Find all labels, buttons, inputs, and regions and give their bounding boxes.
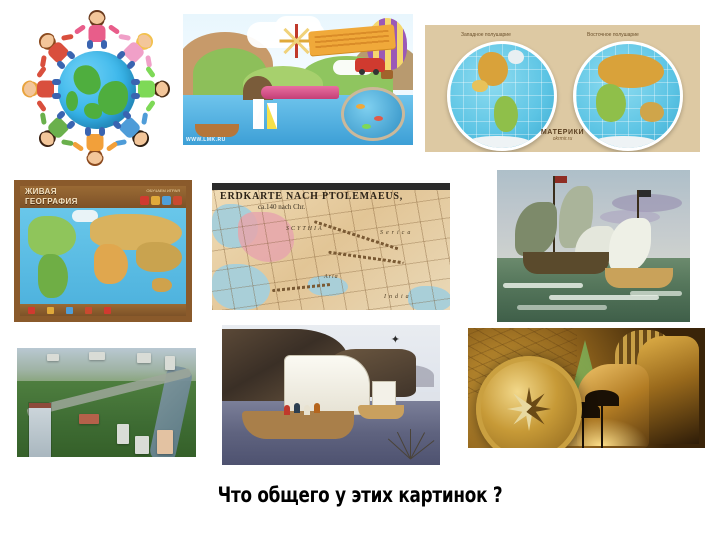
ptolemy-subtitle: ca.140 nach Chr. <box>258 203 305 211</box>
image-koch-boats-river[interactable]: ✦ <box>222 325 440 465</box>
geo-title-line2: ГЕОГРАФИЯ <box>25 197 78 207</box>
train-icon <box>261 86 339 99</box>
wave-crest <box>630 291 682 296</box>
kid-figure <box>78 130 112 164</box>
building-block <box>47 354 59 361</box>
building-block <box>117 424 129 444</box>
building-block <box>89 352 105 360</box>
ptolemy-parchment: SCYTHIA Aria India Serica <box>212 190 450 310</box>
palm-tree-icon <box>582 408 584 448</box>
building-block <box>137 353 151 363</box>
boat-icon <box>195 124 239 137</box>
image-zhivaya-geografiya[interactable]: ЖИВАЯ ГЕОГРАФИЯ ОБУЧАЕМ ИГРАЯ <box>14 180 192 322</box>
image-kids-around-globe[interactable] <box>14 10 179 170</box>
slide-caption: Что общего у этих картинок ? <box>72 483 648 507</box>
image-cartoon-travel-map[interactable]: WWW.LMK.RU <box>183 14 413 145</box>
geo-footer-bar <box>20 304 186 316</box>
geo-landmass <box>94 244 128 284</box>
crew-figure <box>304 405 310 415</box>
building-block <box>157 430 173 454</box>
high-rise-tower <box>29 403 51 457</box>
geo-landmass <box>152 278 172 292</box>
kid-figure <box>134 72 168 106</box>
ptolemy-place-name: SCYTHIA <box>286 226 324 232</box>
slide-canvas: WWW.LMK.RU Западное полушарие Восточное … <box>0 0 720 540</box>
sailboat-sail <box>253 99 264 129</box>
ptolemy-title: ERDKARTE NACH PTOLEMAEUS, <box>220 191 403 202</box>
ship-flag <box>639 190 651 197</box>
crew-figure <box>294 403 300 413</box>
ship-hull <box>523 252 609 274</box>
geo-title-line1: ЖИВАЯ <box>25 187 78 197</box>
palm-tree-icon <box>601 396 603 448</box>
image-aerial-city[interactable] <box>17 348 196 457</box>
geo-title: ЖИВАЯ ГЕОГРАФИЯ <box>25 187 78 207</box>
image-golden-travel-collage[interactable] <box>468 328 705 448</box>
building-block <box>165 356 175 370</box>
cartoon-watermark: WWW.LMK.RU <box>186 137 226 143</box>
hemispheres-caption: МАТЕРИКИ okrmir.ru <box>425 129 700 142</box>
hemispheres-title: МАТЕРИКИ <box>425 129 700 136</box>
car-icon <box>355 58 385 72</box>
sailboat-sail <box>267 103 277 129</box>
crew-figure <box>284 405 290 415</box>
hemisphere-label-east: Восточное полушарие <box>587 32 639 38</box>
geo-subtitle: ОБУЧАЕМ ИГРАЯ <box>146 188 180 193</box>
ptolemy-place-name: Aria <box>324 274 339 280</box>
crew-figure <box>314 403 320 413</box>
building-block <box>79 414 99 424</box>
wave-crest <box>503 283 583 288</box>
building-block <box>135 436 149 454</box>
bare-branch <box>392 417 438 459</box>
geo-button-row[interactable] <box>140 196 182 205</box>
ship-flag <box>555 176 567 183</box>
image-ptolemaeus-map[interactable]: SCYTHIA Aria India Serica ERDKARTE NACH … <box>212 183 450 310</box>
ptolemy-place-name: Serica <box>380 230 413 236</box>
ptolemy-top-bar <box>212 183 450 190</box>
image-caravels-at-sea[interactable] <box>497 170 690 322</box>
image-hemispheres-map[interactable]: Западное полушарие Восточное полушарие М… <box>425 25 700 152</box>
cartoon-pond <box>341 87 405 141</box>
ship-hull <box>605 268 673 288</box>
wave-crest <box>517 305 607 310</box>
bird-icon: ✦ <box>391 335 400 346</box>
geo-landmass <box>28 216 76 256</box>
hemispheres-source: okrmir.ru <box>425 136 700 142</box>
hemisphere-label-west: Западное полушарие <box>461 32 511 38</box>
ptolemy-place-name: India <box>384 294 412 300</box>
kid-figure <box>24 72 58 106</box>
compass-rose-icon <box>279 24 313 58</box>
koch-hull <box>242 411 354 439</box>
kid-figure <box>80 12 114 46</box>
geo-landmass <box>136 242 182 272</box>
geo-landmass <box>38 254 68 298</box>
